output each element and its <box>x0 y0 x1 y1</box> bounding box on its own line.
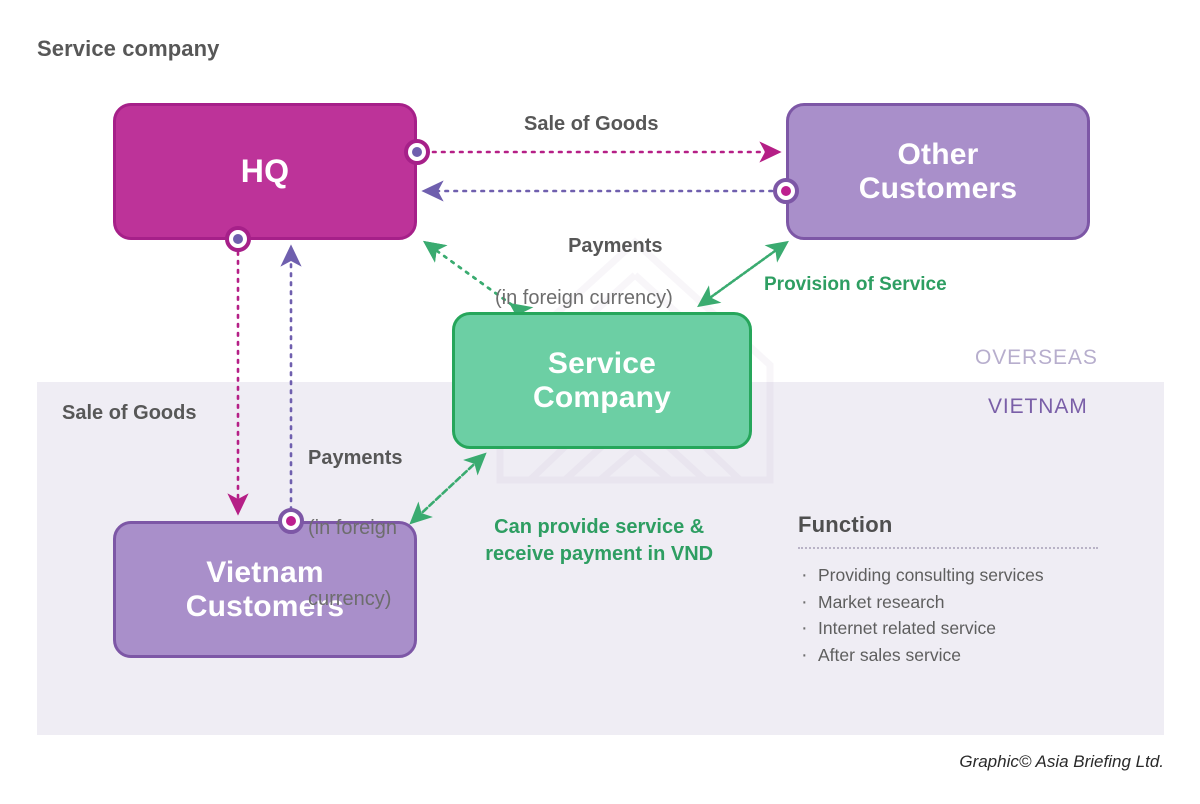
edge-label-vnd-line1: Can provide service & <box>494 516 704 538</box>
edge-label-payments-left: Payments (in foreign currency) <box>308 401 403 657</box>
edge-label-vnd-line2: receive payment in VND <box>485 543 713 565</box>
node-other-customers-line1: Other <box>859 138 1018 172</box>
node-hq[interactable]: HQ <box>113 103 417 240</box>
page-title: Service company <box>37 36 219 62</box>
node-hq-label: HQ <box>241 154 289 190</box>
function-panel-divider <box>798 547 1098 549</box>
diagram-canvas: Service company HQ Other Customers Servi… <box>0 0 1200 804</box>
edge-label-payments-left-line1: Payments <box>308 445 403 472</box>
node-service-company-line2: Company <box>533 381 671 415</box>
edge-label-payments-left-line3: currency) <box>308 586 403 613</box>
credit-text: Graphic© Asia Briefing Ltd. <box>959 752 1164 772</box>
region-label-vietnam: VIETNAM <box>988 395 1088 419</box>
port-other-customers-left <box>773 178 799 204</box>
edge-label-provision-of-service: Provision of Service <box>764 274 947 296</box>
list-item: Internet related service <box>798 615 1100 642</box>
list-item: After sales service <box>798 642 1100 669</box>
edge-label-sale-of-goods-top: Sale of Goods <box>524 113 658 136</box>
list-item: Providing consulting services <box>798 562 1100 589</box>
port-hq-bottom <box>225 226 251 252</box>
node-other-customers-line2: Customers <box>859 172 1018 206</box>
list-item: Market research <box>798 589 1100 616</box>
port-hq-right <box>404 139 430 165</box>
edge-label-vnd: Can provide service & receive payment in… <box>463 488 713 594</box>
edge-label-payments-top: Payments (in foreign currency) <box>540 209 673 360</box>
node-other-customers[interactable]: Other Customers <box>786 103 1090 240</box>
edge-label-payments-top-line1: Payments <box>568 235 663 257</box>
edge-label-payments-left-line2: (in foreign <box>308 515 403 542</box>
function-panel-title: Function <box>798 512 1100 538</box>
port-vietnam-customers-top <box>278 508 304 534</box>
function-panel-list: Providing consulting services Market res… <box>798 562 1100 668</box>
function-panel: Function Providing consulting services M… <box>798 512 1100 668</box>
region-label-overseas: OVERSEAS <box>975 346 1098 370</box>
edge-label-payments-top-line2: (in foreign currency) <box>495 284 673 313</box>
edge-label-sale-of-goods-left: Sale of Goods <box>62 402 196 425</box>
